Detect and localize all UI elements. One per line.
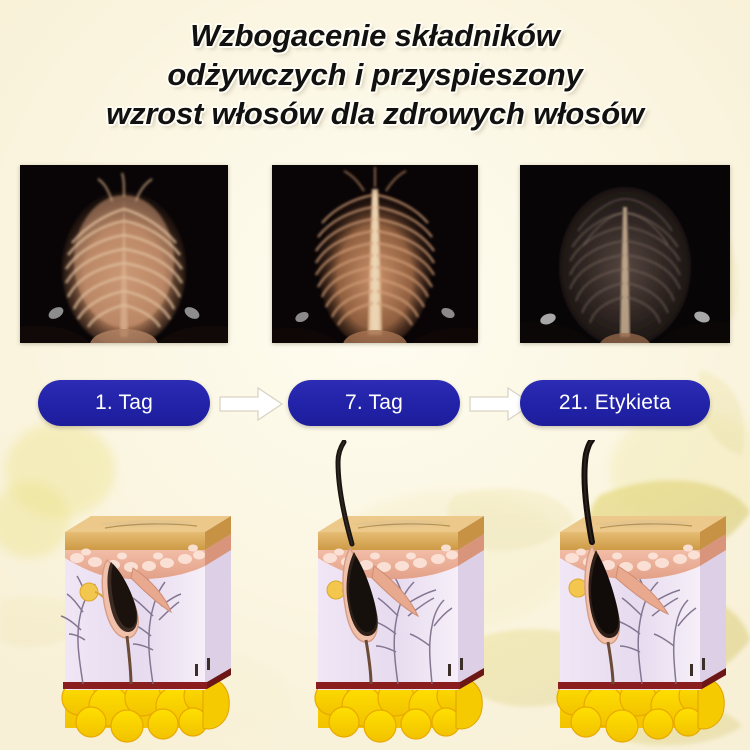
infographic-canvas: Wzbogacenie składników odżywczych i przy… [0,0,750,750]
skin-cross-section-stage-3 [530,440,750,750]
before-after-photo-row [0,165,750,345]
timeline-arrow-1 [218,386,284,422]
skin-cross-section-stage-3-svg [530,440,750,750]
scalp-photo-day-21 [520,165,730,343]
skin-cross-section-stage-2 [288,440,518,750]
title-line-3: wzrost włosów dla zdrowych włosów [0,94,750,133]
page-title: Wzbogacenie składników odżywczych i przy… [0,16,750,133]
arrow-right-icon [218,386,284,422]
scalp-photo-day-1 [20,165,228,343]
epidermis-layer [318,516,484,550]
epidermis-layer [65,516,231,550]
scalp-photo-day-7 [272,165,478,343]
skin-diagram-row [0,440,750,750]
scalp-photo-day-7-image [272,165,478,343]
title-line-2: odżywczych i przyspieszony [0,55,750,94]
timeline-badge-1[interactable]: 1. Tag [38,380,210,426]
skin-cross-section-stage-1-svg [35,440,265,750]
timeline-badge-2[interactable]: 7. Tag [288,380,460,426]
title-line-1: Wzbogacenie składników [0,16,750,55]
skin-cross-section-stage-1 [35,440,265,750]
timeline-badge-3-label: 21. Etykieta [559,391,671,415]
timeline-row: 1. Tag 7. Tag 21. Etykieta [0,380,750,436]
epidermis-layer [560,516,726,550]
skin-cross-section-stage-2-svg [288,440,518,750]
timeline-badge-1-label: 1. Tag [95,391,153,415]
scalp-photo-day-1-image [20,165,228,343]
timeline-badge-2-label: 7. Tag [345,391,403,415]
timeline-badge-3[interactable]: 21. Etykieta [520,380,710,426]
scalp-photo-day-21-image [520,165,730,343]
